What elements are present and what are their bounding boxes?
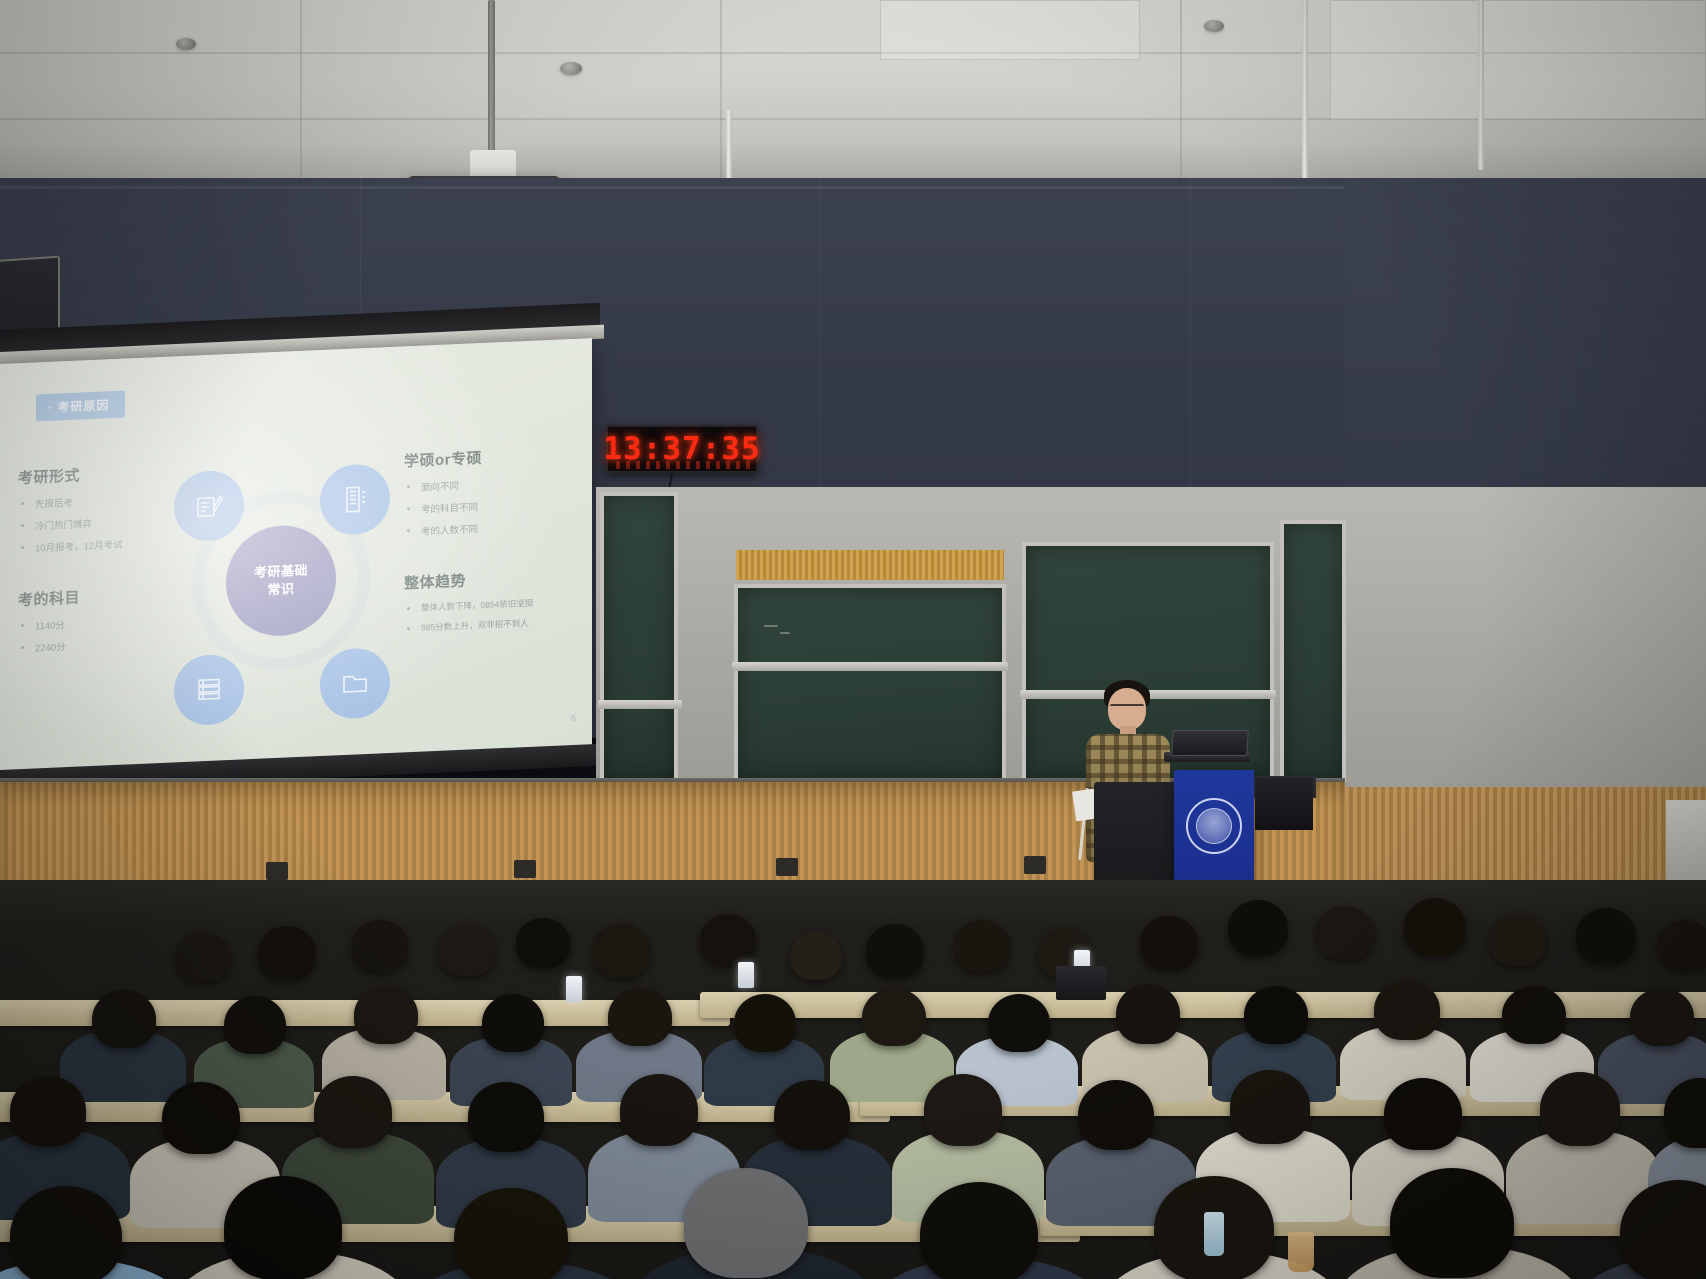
- audience-head: [866, 924, 924, 978]
- lecture-hall-photo: · 考研原因 考研形式 先报后考 冷门热门博弈 10月报考，12月考试 考的科目…: [0, 0, 1706, 1279]
- slide-bullets-subjects: 1140分 2240分: [18, 612, 186, 655]
- list-item: 冷门热门博弈: [18, 512, 186, 533]
- audience-head: [1244, 986, 1308, 1044]
- audience-head: [352, 920, 408, 972]
- blackboard-center: [734, 584, 1006, 782]
- audience-head: [1490, 914, 1546, 966]
- audience-head: [176, 932, 230, 982]
- audience-head: [734, 994, 796, 1052]
- audience-head: [354, 986, 418, 1044]
- audience-head: [1230, 1070, 1310, 1144]
- ceiling-vent-icon: [1204, 20, 1224, 32]
- blackboard-far-right: [1280, 520, 1346, 782]
- drink-cup-icon: [1288, 1232, 1314, 1272]
- audience-head: [790, 932, 842, 980]
- audience-head: [1374, 980, 1440, 1040]
- audience-head: [92, 990, 156, 1048]
- blackboard-wood-strip: [736, 550, 1004, 580]
- water-bottle-icon: [1204, 1212, 1224, 1256]
- wall-socket-icon: [776, 858, 798, 876]
- slide-bullets-degree-type: 面向不同 考的科目不同 考的人数不同: [404, 472, 592, 538]
- audience-head: [1116, 984, 1180, 1044]
- ceiling-rod: [1478, 0, 1484, 170]
- list-item: 1140分: [18, 612, 186, 633]
- ceiling-vent-icon: [560, 62, 582, 75]
- blackboard-rail: [598, 700, 682, 709]
- slide-heading-degree-type: 学硕or专硕: [404, 442, 592, 471]
- books-icon: [174, 653, 244, 726]
- audience-head: [1078, 1080, 1154, 1150]
- audience-head: [620, 1074, 698, 1146]
- slide-section-tag: · 考研原因: [36, 391, 125, 422]
- audience-head: [516, 918, 570, 968]
- audience-head: [774, 1080, 850, 1150]
- audience-head: [314, 1076, 392, 1148]
- audience-head: [1630, 988, 1694, 1046]
- slide-heading-overall-trend: 整体趋势: [404, 564, 592, 593]
- audience-head: [10, 1186, 122, 1279]
- building-icon: [320, 463, 390, 536]
- list-item: 考的科目不同: [404, 494, 592, 516]
- laptop-icon: [1056, 966, 1106, 1000]
- podium-side-panel: [1255, 778, 1313, 830]
- audience-head: [224, 1176, 342, 1279]
- slide-heading-exam-format: 考研形式: [18, 460, 186, 488]
- list-item: 整体人数下降，0854依旧坚挺: [404, 594, 592, 614]
- audience-head: [954, 920, 1010, 972]
- audience-head: [482, 994, 544, 1052]
- slide-column-right: 学硕or专硕 面向不同 考的科目不同 考的人数不同 整体趋势 整体人数下降，08…: [404, 442, 592, 642]
- audience-area: [0, 880, 1706, 1279]
- audience-head: [920, 1182, 1038, 1279]
- audience-head: [1576, 908, 1636, 964]
- blackboard-rail: [732, 662, 1008, 671]
- audience-head: [1540, 1072, 1620, 1146]
- presentation-slide: · 考研原因 考研形式 先报后考 冷门热门博弈 10月报考，12月考试 考的科目…: [0, 338, 592, 778]
- laptop-screen: [1171, 730, 1249, 756]
- slide-column-left: 考研形式 先报后考 冷门热门博弈 10月报考，12月考试 考的科目 1140分 …: [18, 460, 186, 663]
- audience-head: [162, 1082, 240, 1154]
- audience-head: [700, 914, 756, 966]
- audience-head: [1228, 900, 1288, 956]
- audience-head: [468, 1082, 544, 1152]
- hub-title-line1: 考研基础: [254, 562, 308, 582]
- hub-title-line2: 常识: [267, 580, 294, 599]
- audience-head: [1404, 898, 1466, 956]
- glasses-icon: [1110, 704, 1144, 711]
- audience-head: [988, 994, 1050, 1052]
- list-item: 985分数上升，双非招不到人: [404, 614, 592, 634]
- audience-head: [10, 1076, 86, 1146]
- audience-head: [438, 924, 496, 976]
- audience-head: [1658, 920, 1706, 970]
- slide-hub-diagram: 考研基础 常识: [168, 457, 394, 731]
- audience-head: [1390, 1168, 1514, 1278]
- list-item: 考的人数不同: [404, 516, 592, 538]
- slide-bullets-overall-trend: 整体人数下降，0854依旧坚挺 985分数上升，双非招不到人: [404, 594, 592, 634]
- audience-head: [862, 988, 926, 1046]
- audience-head: [684, 1168, 808, 1278]
- slide-page-number: 6: [571, 713, 576, 723]
- list-item: 10月报考，12月考试: [18, 534, 186, 555]
- audience-head: [1140, 916, 1198, 970]
- list-item: 面向不同: [404, 472, 592, 494]
- slide-heading-subjects: 考的科目: [18, 582, 186, 610]
- audience-head: [258, 926, 316, 980]
- audience-head: [924, 1074, 1002, 1146]
- phone-icon: [738, 962, 754, 988]
- slide-bullets-exam-format: 先报后考 冷门热门博弈 10月报考，12月考试: [18, 490, 186, 555]
- list-item: 先报后考: [18, 490, 186, 511]
- wall-socket-icon: [1024, 856, 1046, 874]
- ceiling: [0, 0, 1706, 182]
- audience-head: [1384, 1078, 1462, 1150]
- projection-screen: · 考研原因 考研形式 先报后考 冷门热门博弈 10月报考，12月考试 考的科目…: [0, 338, 592, 778]
- folder-icon: [320, 647, 390, 720]
- audience-head: [592, 924, 650, 978]
- wall-socket-icon: [514, 860, 536, 878]
- wall-socket-icon: [266, 862, 288, 880]
- phone-icon: [566, 976, 582, 1002]
- audience-head: [608, 988, 672, 1046]
- wall-digital-clock: 13:37:35: [606, 425, 758, 473]
- ceiling-vent-icon: [176, 38, 196, 50]
- list-item: 2240分: [18, 634, 186, 655]
- audience-head: [454, 1188, 568, 1279]
- audience-head: [1316, 906, 1374, 960]
- ceiling-rod: [488, 0, 495, 158]
- university-seal-icon: [1186, 798, 1242, 854]
- audience-head: [1502, 986, 1566, 1044]
- audience-head: [224, 996, 286, 1054]
- blackboard-left: [600, 492, 678, 782]
- clock-secondary-display: [616, 461, 752, 469]
